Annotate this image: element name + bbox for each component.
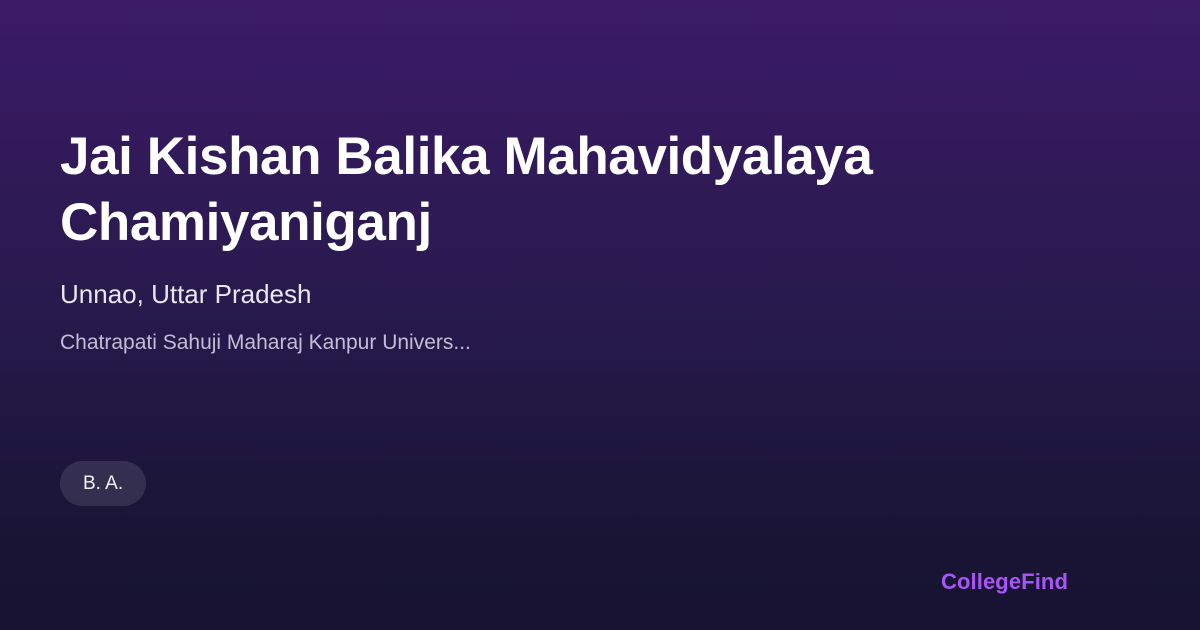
brand-logo: CollegeFind xyxy=(941,568,1068,596)
degree-badge-list: B. A. xyxy=(60,461,146,506)
college-location: Unnao, Uttar Pradesh xyxy=(60,278,1140,310)
college-og-card: Jai Kishan Balika Mahavidyalaya Chamiyan… xyxy=(0,0,1200,630)
college-affiliation: Chatrapati Sahuji Maharaj Kanpur Univers… xyxy=(60,329,1140,356)
status-badge: B. A. xyxy=(60,461,146,506)
card-content: Jai Kishan Balika Mahavidyalaya Chamiyan… xyxy=(60,0,1140,356)
page-title: Jai Kishan Balika Mahavidyalaya Chamiyan… xyxy=(60,124,1050,256)
